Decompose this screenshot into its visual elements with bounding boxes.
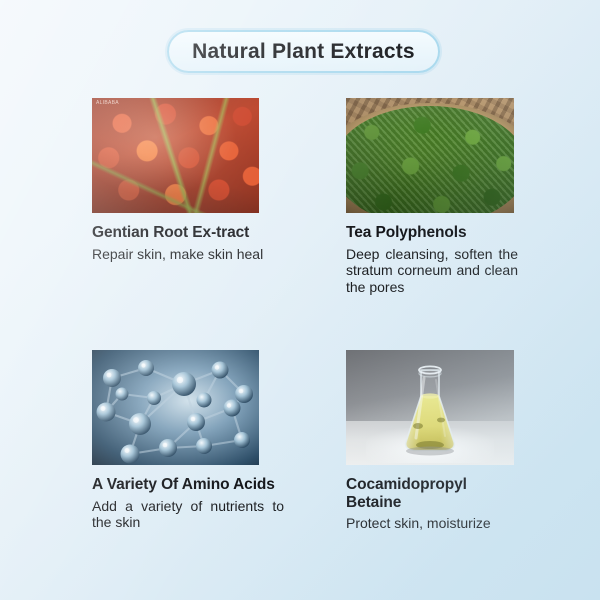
image-watermark: ALIBABA: [96, 100, 119, 106]
tea-shading-overlay: [346, 98, 514, 213]
product-infographic-page: Natural Plant Extracts ALIBABA Gentian R…: [0, 0, 600, 600]
ingredient-description: Deep cleansing, soften the stratum corne…: [346, 246, 518, 296]
page-title-pill: Natural Plant Extracts: [167, 30, 440, 73]
ingredient-title: Tea Polyphenols: [346, 224, 522, 242]
ingredient-title: Gentian Root Ex-tract: [92, 224, 292, 242]
flask-graphic: [346, 350, 514, 465]
ingredient-description: Repair skin, make skin heal: [92, 246, 282, 263]
ingredient-card-tea-polyphenols: Tea Polyphenols Deep cleansing, soften t…: [346, 98, 594, 296]
page-title: Natural Plant Extracts: [192, 40, 415, 64]
ingredient-card-amino-acids: A Variety Of Amino Acids Add a variety o…: [92, 350, 340, 531]
ingredient-description: Protect skin, moisturize: [346, 515, 546, 532]
ingredient-card-cocamidopropyl-betaine: Cocamidopropyl Betaine Protect skin, moi…: [346, 350, 594, 532]
ingredient-card-gentian-root-extract: ALIBABA Gentian Root Ex-tract Repair ski…: [92, 98, 340, 262]
green-tea-leaves-image: [346, 98, 514, 213]
molecule-lattice-graphic: [92, 350, 259, 465]
molecule-structure-image: [92, 350, 259, 465]
goji-berries-image: ALIBABA: [92, 98, 259, 213]
ingredient-title: Cocamidopropyl Betaine: [346, 476, 522, 511]
berry-sheen-overlay: [92, 98, 259, 213]
erlenmeyer-flask-image: [346, 350, 514, 465]
ingredient-title: A Variety Of Amino Acids: [92, 476, 292, 494]
ingredient-description: Add a variety of nutrients to the skin: [92, 498, 284, 532]
